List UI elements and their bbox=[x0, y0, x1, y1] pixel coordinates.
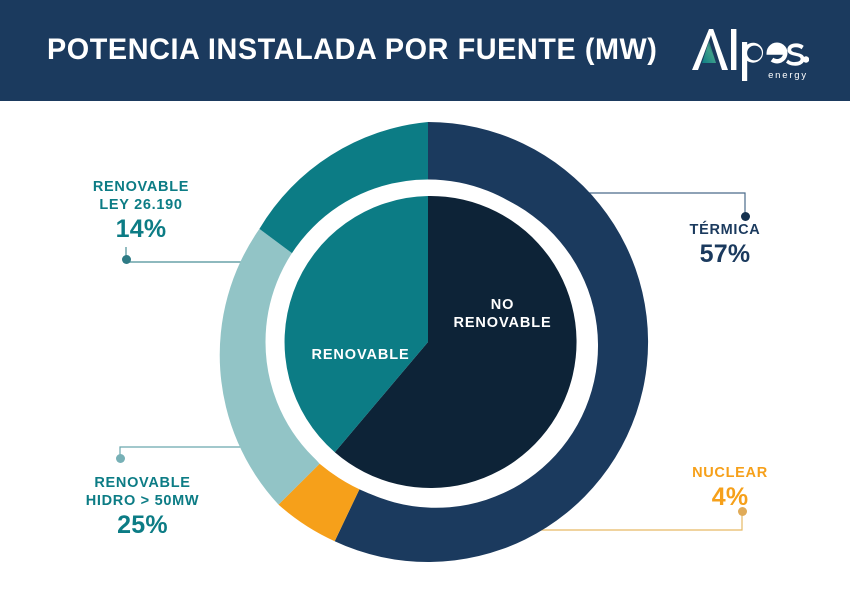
callout-termica-line1: TÉRMICA bbox=[650, 221, 800, 239]
pie-slice-no-renovable bbox=[335, 196, 577, 488]
callout-hidro-line2: HIDRO > 50MW bbox=[40, 492, 245, 510]
pie-label-no-renovable-line2: RENOVABLE bbox=[410, 314, 595, 332]
header-bar: POTENCIA INSTALADA POR FUENTE (MW) bbox=[0, 0, 850, 101]
outer-ring-slices bbox=[220, 122, 648, 562]
leader-line-hidro bbox=[120, 447, 280, 462]
leader-dot-ley bbox=[122, 255, 131, 264]
leader-line-termica bbox=[560, 193, 745, 216]
callout-ley-line2: LEY 26.190 bbox=[46, 196, 236, 214]
callout-termica-percent: 57% bbox=[650, 239, 800, 269]
page-title: POTENCIA INSTALADA POR FUENTE (MW) bbox=[47, 32, 657, 68]
callout-nuclear: NUCLEAR 4% bbox=[655, 464, 805, 512]
callout-renovable-hidro: RENOVABLE HIDRO > 50MW 25% bbox=[40, 474, 245, 540]
pie-label-no-renovable-line1: NO bbox=[410, 296, 595, 314]
logo-tagline: energy bbox=[768, 70, 808, 81]
alpes-energy-logo: energy bbox=[684, 26, 809, 84]
slice-hidro bbox=[220, 229, 320, 505]
callout-ley-line1: RENOVABLE bbox=[46, 178, 236, 196]
pie-label-no-renovable: NO RENOVABLE bbox=[410, 296, 595, 332]
slice-termica bbox=[335, 122, 648, 562]
callout-termica: TÉRMICA 57% bbox=[650, 221, 800, 269]
callout-ley-percent: 14% bbox=[46, 214, 236, 244]
callout-nuclear-percent: 4% bbox=[655, 482, 805, 512]
ring-gap bbox=[274, 188, 582, 496]
leader-dot-termica bbox=[741, 212, 750, 221]
pie-label-renovable: RENOVABLE bbox=[258, 346, 463, 364]
callout-nuclear-line1: NUCLEAR bbox=[655, 464, 805, 482]
leader-dot-hidro bbox=[116, 454, 125, 463]
leader-line-ley bbox=[126, 247, 250, 262]
pie-slice-renovable bbox=[285, 196, 428, 452]
slice-nuclear bbox=[279, 464, 360, 541]
callout-hidro-line1: RENOVABLE bbox=[40, 474, 245, 492]
callout-renovable-ley: RENOVABLE LEY 26.190 14% bbox=[46, 178, 236, 244]
slice-ley bbox=[259, 122, 428, 263]
callout-hidro-percent: 25% bbox=[40, 510, 245, 540]
inner-pie-slices bbox=[285, 196, 577, 488]
leader-line-nuclear bbox=[470, 512, 742, 530]
infographic-canvas: POTENCIA INSTALADA POR FUENTE (MW) bbox=[0, 0, 850, 594]
